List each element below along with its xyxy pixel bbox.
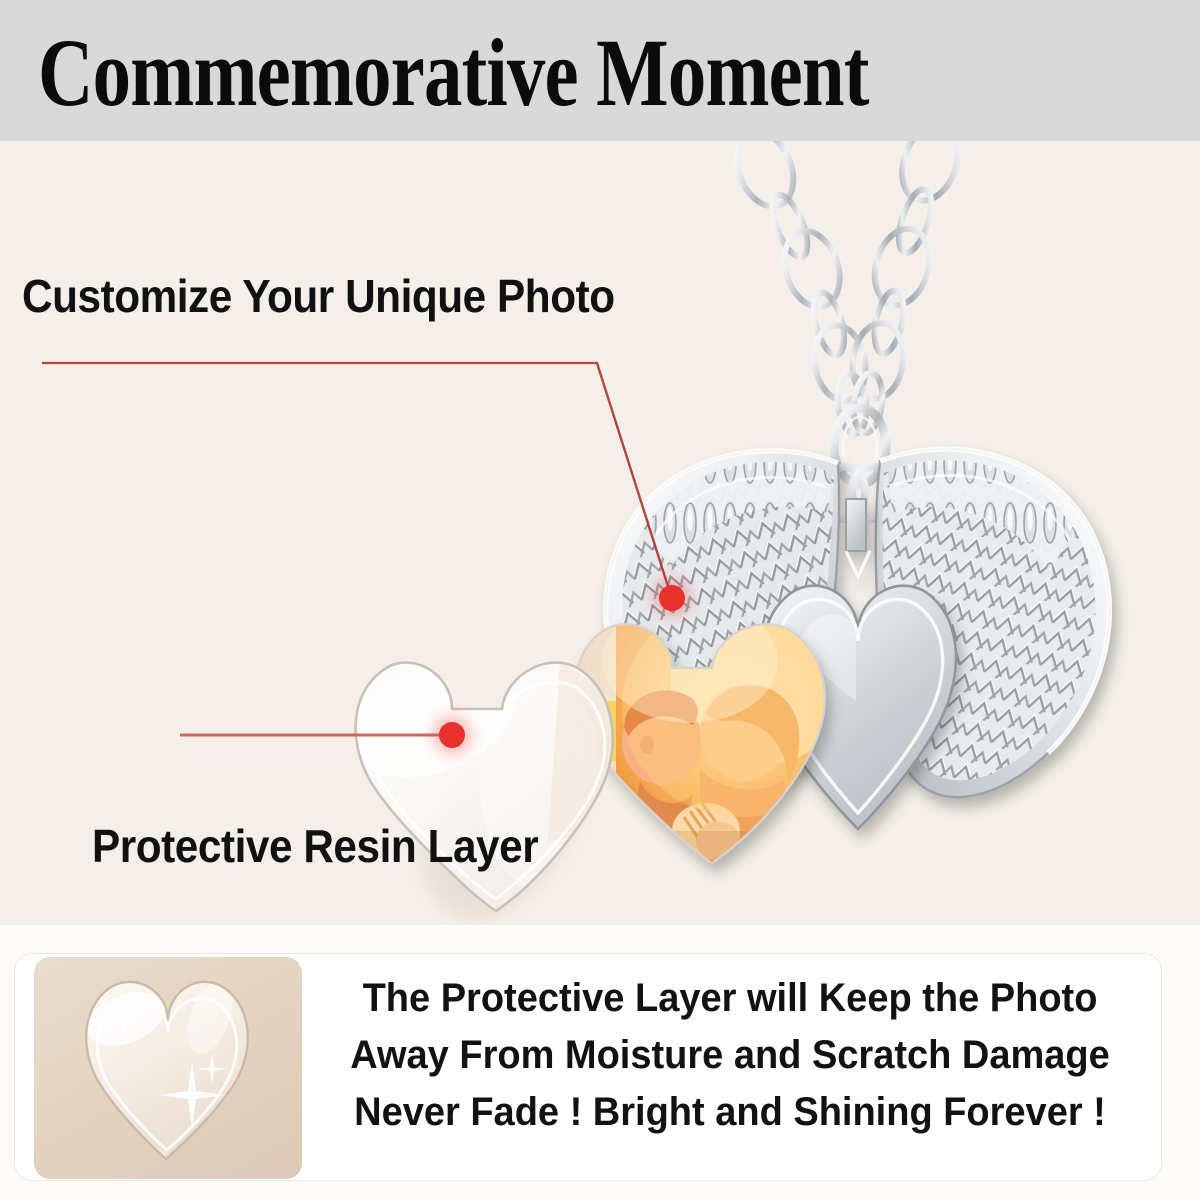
header-banner: Commemorative Moment: [0, 0, 1200, 141]
clear-resin-heart: [330, 631, 630, 925]
locket-assembly: [0, 141, 1200, 925]
bottom-panel: The Protective Layer will Keep the Photo…: [0, 925, 1200, 1200]
feature-line-2: Away From Moisture and Scratch Damage: [345, 1027, 1115, 1084]
swatch-heart-icon: [34, 957, 302, 1179]
callout-label-protective-resin: Protective Resin Layer: [92, 819, 538, 873]
product-infographic: Commemorative Moment: [0, 0, 1200, 1200]
feature-card: The Protective Layer will Keep the Photo…: [14, 953, 1162, 1181]
page-title: Commemorative Moment: [38, 25, 869, 121]
feature-line-3: Never Fade ! Bright and Shining Forever …: [345, 1084, 1115, 1141]
clear-resin-heart-swatch: [34, 957, 302, 1179]
callout-label-customize-photo: Customize Your Unique Photo: [22, 269, 615, 323]
product-stage: Customize Your Unique Photo Protective R…: [0, 141, 1200, 925]
feature-text-block: The Protective Layer will Keep the Photo…: [325, 970, 1135, 1141]
feature-line-1: The Protective Layer will Keep the Photo: [345, 970, 1115, 1027]
